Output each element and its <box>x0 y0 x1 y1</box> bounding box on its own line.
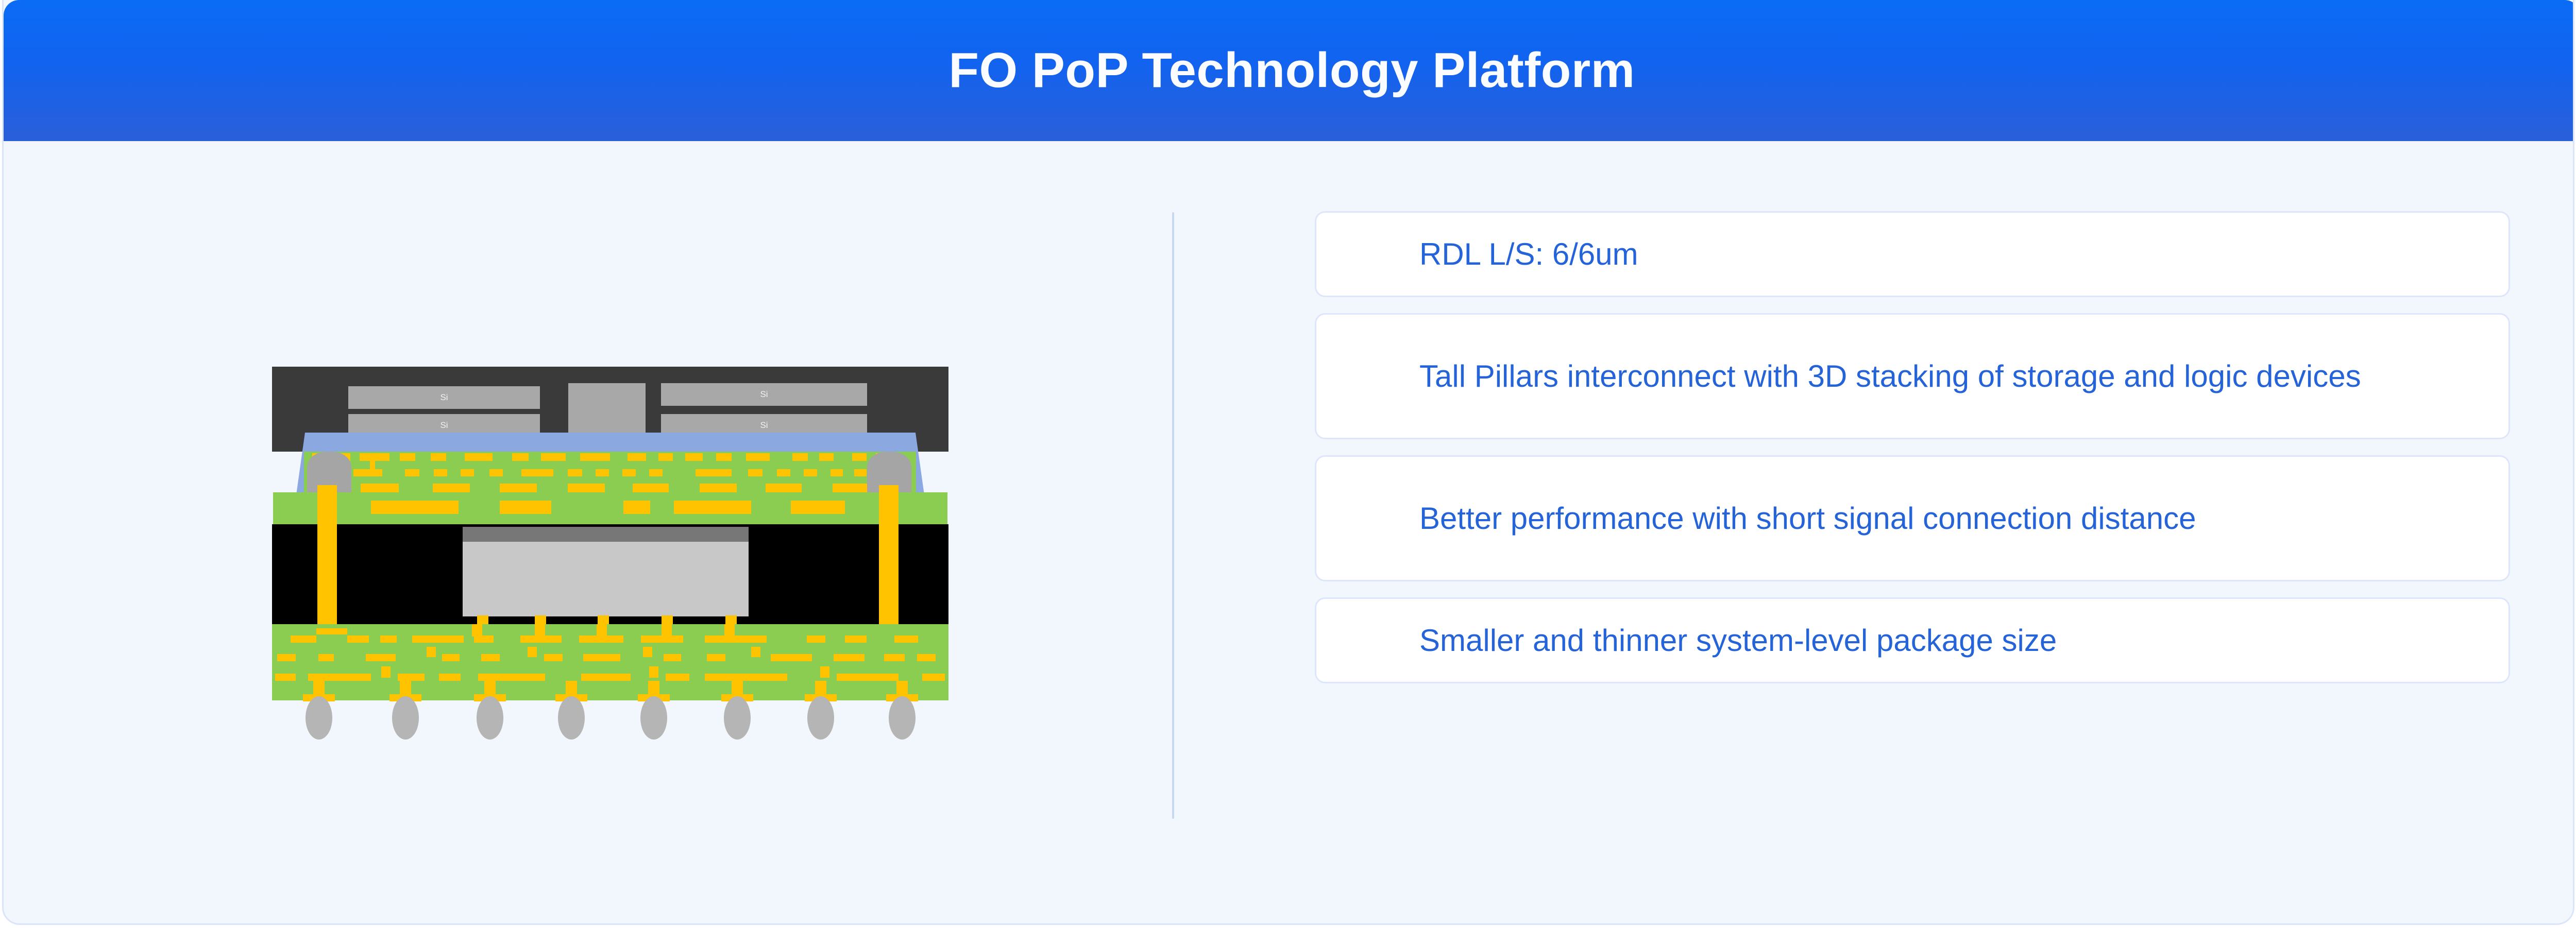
feature-card-label: Better performance with short signal con… <box>1316 498 2258 539</box>
upper-rdl-layer <box>304 452 916 493</box>
solder-ball <box>306 696 332 740</box>
tall-copper-pillar-left-segment <box>317 524 337 627</box>
feature-card[interactable]: Tall Pillars interconnect with 3D stacki… <box>1315 313 2510 439</box>
page-header: FO PoP Technology Platform <box>4 0 2574 141</box>
solder-ball <box>889 696 916 740</box>
solder-ball <box>640 696 667 740</box>
feature-card-label: Smaller and thinner system-level package… <box>1316 620 2119 661</box>
feature-card[interactable]: Smaller and thinner system-level package… <box>1315 597 2510 683</box>
feature-card[interactable]: RDL L/S: 6/6um <box>1315 211 2510 297</box>
logic-die-body <box>463 542 749 616</box>
fan-out-rdl-layer <box>272 624 948 700</box>
page-title: FO PoP Technology Platform <box>948 46 1635 95</box>
solder-ball <box>392 696 419 740</box>
middle-rdl-layer <box>273 492 947 525</box>
feature-card-list: RDL L/S: 6/6um Tall Pillars interconnect… <box>1315 211 2510 699</box>
feature-card-label: Tall Pillars interconnect with 3D stacki… <box>1316 356 2423 397</box>
slide-page: FO PoP Technology Platform Si Si Si Si <box>2 0 2574 925</box>
solder-ball <box>558 696 585 740</box>
vertical-divider <box>1172 212 1174 819</box>
solder-ball <box>807 696 834 740</box>
solder-ball <box>724 696 751 740</box>
feature-card-label: RDL L/S: 6/6um <box>1316 234 1700 274</box>
feature-card[interactable]: Better performance with short signal con… <box>1315 455 2510 581</box>
content-area: Si Si Si Si <box>4 141 2574 923</box>
silicon-die-block <box>568 383 646 437</box>
logic-die-cap <box>463 527 749 543</box>
silicon-die-label: Si <box>661 383 867 406</box>
tall-copper-pillar-right-segment <box>879 524 899 627</box>
fo-pop-cross-section-diagram: Si Si Si Si <box>272 367 948 686</box>
silicon-die-label: Si <box>348 386 540 409</box>
solder-ball <box>477 696 503 740</box>
